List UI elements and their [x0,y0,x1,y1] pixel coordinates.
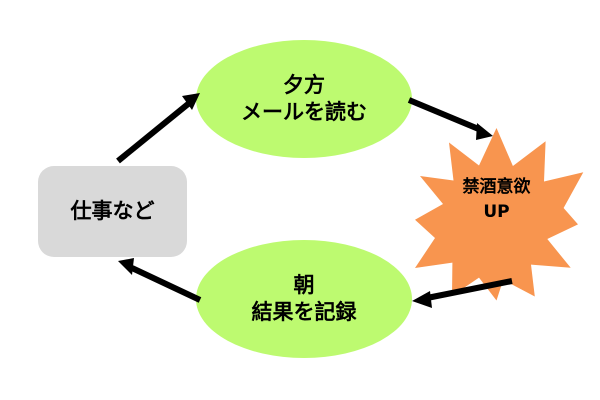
arrow-evening-to-motivation [409,100,493,140]
arrow-work-to-evening [118,93,200,161]
diagram-canvas: 仕事など 夕方 メールを読む 禁酒意欲 UP 朝 結果を記録 [0,0,600,400]
diagram-shapes-layer [0,0,600,400]
node-shape-morning[interactable] [196,240,412,358]
arrow-morning-to-work [118,258,200,300]
node-shape-work[interactable] [38,166,187,257]
node-shape-evening[interactable] [196,40,412,158]
node-shape-motivation[interactable] [415,128,583,301]
